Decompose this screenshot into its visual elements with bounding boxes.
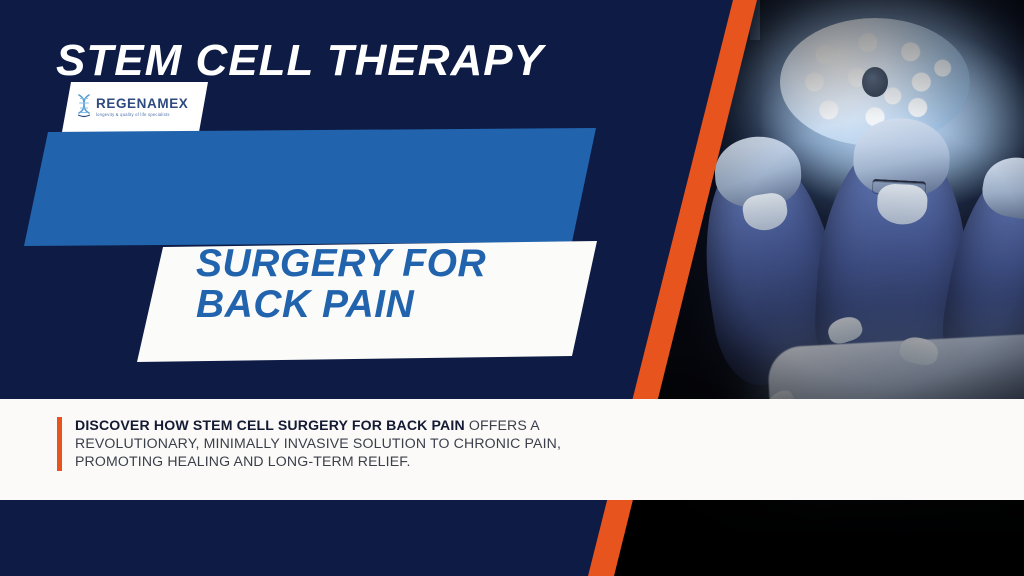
lamp-bulbs bbox=[786, 24, 964, 140]
headline-line-2a: SURGERY FOR bbox=[196, 244, 616, 285]
dna-helix-icon bbox=[76, 94, 92, 120]
logo-wordmark: REGENAMEX longevity & quality of life sp… bbox=[96, 97, 188, 117]
logo-name: REGENAMEX bbox=[96, 97, 188, 111]
surgical-mask bbox=[876, 183, 928, 226]
headline-band-primary bbox=[0, 120, 640, 250]
brand-logo[interactable]: REGENAMEX longevity & quality of life sp… bbox=[62, 82, 208, 132]
headline-line-2: SURGERY FOR BACK PAIN bbox=[196, 244, 616, 325]
description-lead: DISCOVER HOW STEM CELL SURGERY FOR BACK … bbox=[75, 417, 465, 433]
headline-line-1: STEM CELL THERAPY bbox=[56, 36, 616, 86]
description-text: DISCOVER HOW STEM CELL SURGERY FOR BACK … bbox=[75, 417, 577, 471]
surgical-cap bbox=[978, 152, 1024, 223]
logo-tagline: longevity & quality of life specialists bbox=[96, 113, 188, 117]
headline-line-2b: BACK PAIN bbox=[196, 285, 616, 326]
surgical-mask bbox=[741, 191, 790, 233]
description-block: DISCOVER HOW STEM CELL SURGERY FOR BACK … bbox=[57, 417, 577, 471]
banner-root: REGENAMEX longevity & quality of life sp… bbox=[0, 0, 1024, 576]
accent-rule bbox=[57, 417, 62, 471]
